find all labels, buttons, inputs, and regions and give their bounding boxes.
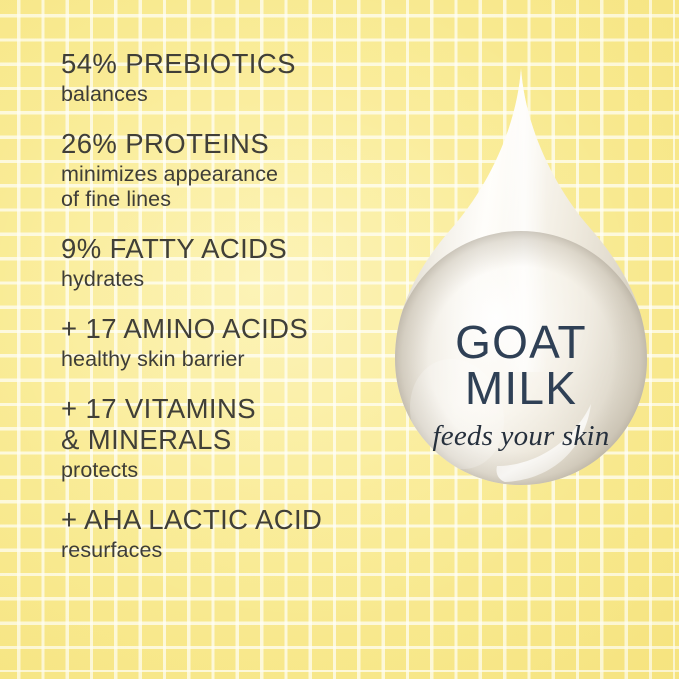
ingredient-heading: + 17 VITAMINS & MINERALS [61,393,381,457]
ingredient-heading: + AHA LACTIC ACID [61,504,381,536]
ingredient-heading: 9% FATTY ACIDS [61,233,381,265]
ingredient-item-vitamins-minerals: + 17 VITAMINS & MINERALS protects [61,393,381,485]
ingredient-benefit: healthy skin barrier [61,347,381,373]
ingredient-item-proteins: 26% PROTEINS minimizes appearance of fin… [61,128,381,213]
ingredient-benefit: balances [61,82,381,108]
ingredient-benefit: resurfaces [61,538,381,564]
ingredient-item-prebiotics: 54% PREBIOTICS balances [61,48,381,108]
ingredient-item-amino-acids: + 17 AMINO ACIDS healthy skin barrier [61,313,381,373]
milk-droplet-illustration [385,62,657,554]
ingredient-list: 54% PREBIOTICS balances 26% PROTEINS min… [61,48,381,564]
ingredient-benefit: minimizes appearance of fine lines [61,162,381,214]
product-infographic: 54% PREBIOTICS balances 26% PROTEINS min… [0,0,679,679]
ingredient-heading: 54% PREBIOTICS [61,48,381,80]
ingredient-item-fatty-acids: 9% FATTY ACIDS hydrates [61,233,381,293]
milk-droplet-icon [385,62,657,554]
ingredient-item-aha-lactic-acid: + AHA LACTIC ACID resurfaces [61,504,381,564]
droplet-rim-shadow [393,231,649,487]
ingredient-heading: 26% PROTEINS [61,128,381,160]
ingredient-benefit: hydrates [61,267,381,293]
ingredient-heading: + 17 AMINO ACIDS [61,313,381,345]
ingredient-benefit: protects [61,458,381,484]
